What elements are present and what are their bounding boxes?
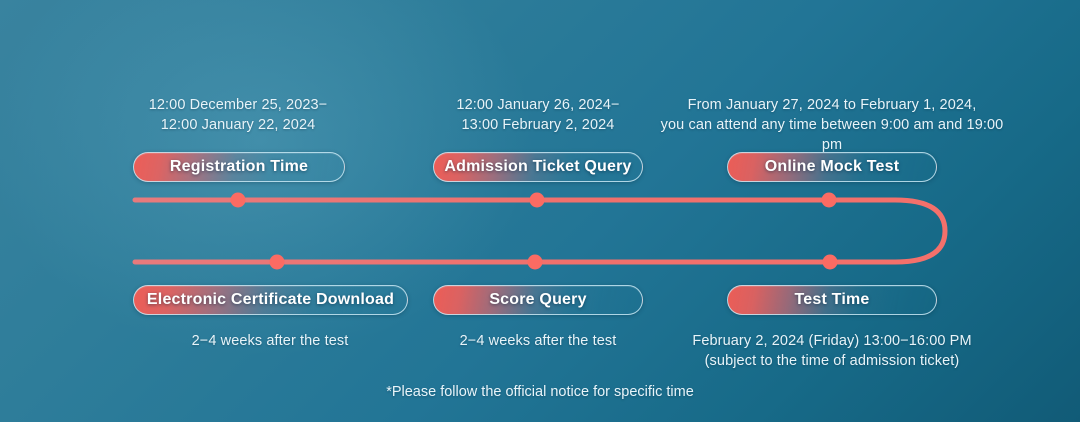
timeline-node-test-time <box>823 255 838 270</box>
badge-admission-ticket-query[interactable]: Admission Ticket Query <box>433 152 643 182</box>
timeline-node-score-query <box>528 255 543 270</box>
badge-label-registration-time: Registration Time <box>170 158 308 176</box>
caption-online-mock-test: From January 27, 2024 to February 1, 202… <box>656 95 1008 155</box>
badge-label-online-mock-test: Online Mock Test <box>765 158 899 176</box>
badge-score-query[interactable]: Score Query <box>433 285 643 315</box>
timeline-node-registration-time <box>231 193 246 208</box>
footnote-text: *Please follow the official notice for s… <box>0 384 1080 400</box>
caption-score-query: 2−4 weeks after the test <box>418 331 658 351</box>
timeline-node-online-mock-test <box>822 193 837 208</box>
caption-electronic-certificate-download: 2−4 weeks after the test <box>150 331 390 351</box>
badge-label-admission-ticket-query: Admission Ticket Query <box>444 158 631 176</box>
badge-label-test-time: Test Time <box>794 291 869 309</box>
caption-registration-time: 12:00 December 25, 2023− 12:00 January 2… <box>118 95 358 135</box>
timeline-node-admission-ticket-query <box>530 193 545 208</box>
timeline-rail-path <box>135 200 945 262</box>
badge-registration-time[interactable]: Registration Time <box>133 152 345 182</box>
badge-online-mock-test[interactable]: Online Mock Test <box>727 152 937 182</box>
background-sheen <box>0 0 640 422</box>
caption-admission-ticket-query: 12:00 January 26, 2024− 13:00 February 2… <box>418 95 658 135</box>
timeline-node-electronic-certificate-download <box>270 255 285 270</box>
badge-label-electronic-certificate-download: Electronic Certificate Download <box>147 291 394 309</box>
badge-electronic-certificate-download[interactable]: Electronic Certificate Download <box>133 285 408 315</box>
badge-label-score-query: Score Query <box>489 291 586 309</box>
caption-test-time: February 2, 2024 (Friday) 13:00−16:00 PM… <box>656 331 1008 371</box>
badge-test-time[interactable]: Test Time <box>727 285 937 315</box>
timeline-infographic: 12:00 December 25, 2023− 12:00 January 2… <box>0 0 1080 422</box>
